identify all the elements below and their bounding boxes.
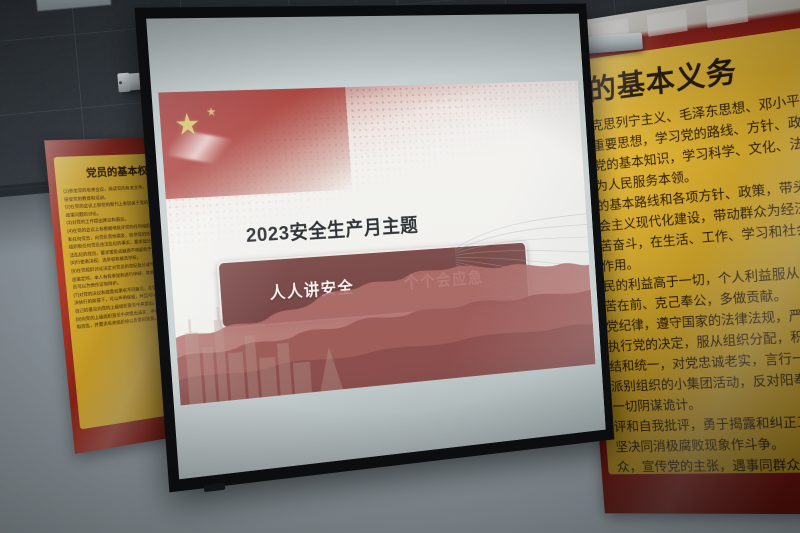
- flag-swoosh: [169, 128, 237, 166]
- presentation-slide: ★ ★ 2023安全生产月主题 人人讲安全 个个会应急: [159, 81, 596, 406]
- poster-right-body: 克思列宁主义、毛泽东思想、邓小平理论、 重要思想，学习党的路线、方针、政策及 党…: [590, 90, 800, 474]
- china-flag-graphic: ★ ★: [159, 87, 352, 199]
- poster-body-line: 众，宣传党的主张，遇事同群众商量，及时: [616, 455, 800, 474]
- projection-screen-surface: ★ ★ 2023安全生产月主题 人人讲安全 个个会应急: [146, 14, 606, 480]
- flag-star-icon: ★: [206, 106, 217, 118]
- poster-body-line: 坚决同消极腐败现象作斗争。: [615, 433, 800, 457]
- roller-screw: [119, 81, 122, 84]
- projection-screen[interactable]: ★ ★ 2023安全生产月主题 人人讲安全 个个会应急: [134, 4, 614, 493]
- city-skyline-silhouette: [173, 284, 382, 405]
- classroom-scene: 党员的基本权 (1)参加党的有关会议，阅读党的有关文件， 接受党的教育和培训。 …: [0, 0, 800, 533]
- roller-end-cap: [117, 73, 130, 93]
- poster-strip-tick: [647, 9, 688, 36]
- poster-strip-tick: [706, 0, 748, 27]
